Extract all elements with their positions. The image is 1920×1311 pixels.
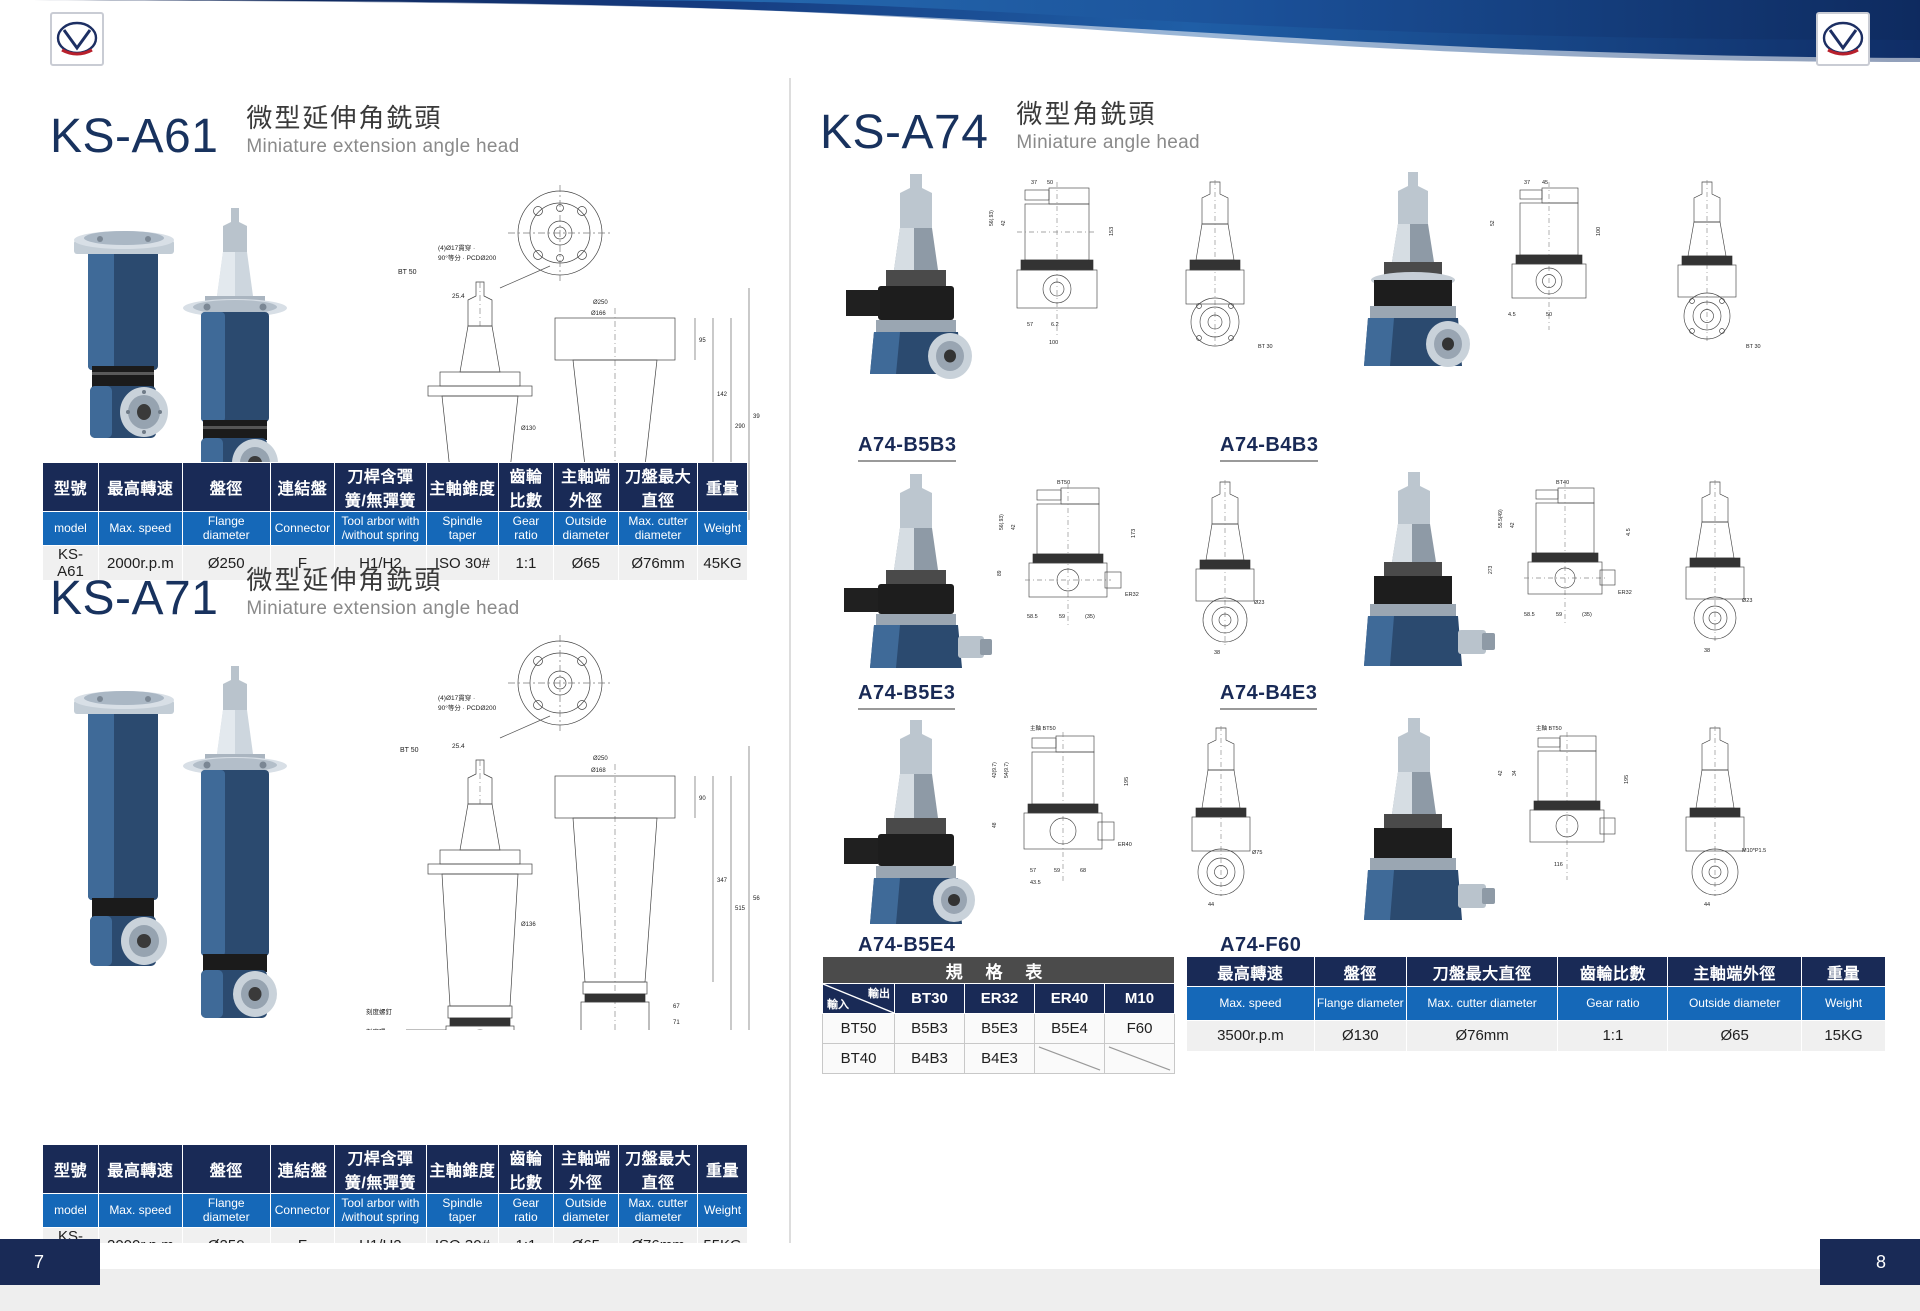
- svg-text:173: 173: [1131, 529, 1137, 538]
- svg-text:59: 59: [1556, 612, 1562, 618]
- svg-text:95: 95: [699, 338, 706, 344]
- product-code: KS-A74: [820, 109, 988, 157]
- svg-text:34: 34: [1512, 770, 1518, 776]
- svg-text:25.4: 25.4: [452, 743, 465, 750]
- th-en-connector: Connector: [270, 1194, 335, 1228]
- svg-text:44: 44: [1704, 902, 1710, 908]
- svg-text:主軸 BT50: 主軸 BT50: [1030, 724, 1056, 732]
- svg-text:BT 30: BT 30: [1258, 344, 1273, 350]
- th-en-gear-ratio: Gear ratio: [499, 512, 553, 546]
- svg-text:Ø166: Ø166: [591, 311, 606, 317]
- svg-text:Ø75: Ø75: [1252, 850, 1262, 856]
- svg-text:ER32: ER32: [1618, 590, 1632, 596]
- chart-row-bt50: BT50 B5B3 B5E3 B5E4 F60: [823, 1014, 1175, 1044]
- svg-text:57: 57: [1027, 322, 1033, 328]
- svg-text:58.5: 58.5: [1524, 612, 1535, 618]
- ks-logo-icon: [56, 18, 98, 60]
- chart-row-input-bt40: BT40: [823, 1044, 895, 1074]
- svg-text:54(9.7): 54(9.7): [1004, 762, 1010, 778]
- svg-text:45: 45: [1542, 180, 1548, 186]
- svg-text:48: 48: [992, 822, 998, 828]
- th-en-weight: Weight: [698, 512, 748, 546]
- svg-text:89: 89: [997, 570, 1003, 576]
- svg-text:Ø23: Ø23: [1742, 598, 1752, 604]
- footer-bar: 7 8: [0, 1243, 1920, 1311]
- th-cn-cutter-dia: 刀盤最大直徑: [1406, 957, 1558, 987]
- th-en-spindle-taper: Spindle taper: [426, 1194, 499, 1228]
- th-en-gear-ratio: Gear ratio: [499, 1194, 553, 1228]
- chart-cell-b5e4: B5E4: [1035, 1014, 1105, 1044]
- svg-text:58.5: 58.5: [1027, 614, 1038, 620]
- svg-text:4.5: 4.5: [1626, 528, 1632, 536]
- product-name-cn: 微型角銑頭: [1016, 100, 1199, 130]
- td-outside-dia: Ø65: [553, 546, 618, 581]
- variant-label-a74-b4b3: A74-B4B3: [1220, 434, 1318, 462]
- chart-cell-empty-er40: [1035, 1044, 1105, 1074]
- td-weight: 15KG: [1802, 1021, 1886, 1051]
- th-cn-cutter-dia: 刀盤最大直徑: [619, 463, 698, 512]
- not-available-diagonal-icon: [1105, 1044, 1174, 1073]
- th-en-flange-dia: Flange diameter: [182, 512, 270, 546]
- svg-text:59: 59: [1059, 614, 1065, 620]
- chart-cell-b5b3: B5B3: [895, 1014, 965, 1044]
- product-header-ks-a71: KS-A71 微型延伸角銑頭 Miniature extension angle…: [50, 566, 520, 623]
- th-en-flange-dia: Flange diameter: [182, 1194, 270, 1228]
- td-weight: 45KG: [698, 546, 748, 581]
- chart-cell-b4e3: B4E3: [965, 1044, 1035, 1074]
- svg-text:42: 42: [1510, 522, 1516, 528]
- th-cn-gear-ratio: 齒輪比數: [499, 1145, 553, 1194]
- svg-text:68: 68: [1080, 868, 1086, 874]
- th-cn-connector: 連結盤: [270, 463, 335, 512]
- th-en-outside-dia: Outside diameter: [1668, 987, 1802, 1021]
- svg-text:56(.93): 56(.93): [989, 210, 995, 226]
- svg-text:BT 50: BT 50: [398, 269, 417, 276]
- variant-label-a74-b5b3: A74-B5B3: [858, 434, 956, 462]
- th-cn-max-speed: 最高轉速: [98, 1145, 182, 1194]
- svg-text:M10*P1.5: M10*P1.5: [1742, 848, 1766, 854]
- svg-text:59: 59: [1054, 868, 1060, 874]
- table-header-row-en: model Max. speed Flange diameter Connect…: [43, 512, 748, 546]
- chart-col-er32: ER32: [965, 984, 1035, 1014]
- svg-text:37: 37: [1031, 180, 1037, 186]
- footer-strip: [0, 1269, 1920, 1311]
- svg-text:195: 195: [1624, 775, 1630, 784]
- table-header-row-cn: 型號 最高轉速 盤徑 連結盤 刀桿含彈簧/無彈簧 主軸錐度 齒輪比數 主軸端外徑…: [43, 1145, 748, 1194]
- svg-text:BT 50: BT 50: [400, 747, 419, 754]
- chart-cell-b5e3: B5E3: [965, 1014, 1035, 1044]
- variant-illustration-a74-b5b3: 37 50 56(.93) 42 57 6.2 153 100: [822, 166, 1332, 384]
- variant-illustration-a74-b5e3: BT50 56(.93) 42 ER32 89 58.5 59 (35) 173: [822, 468, 1332, 678]
- svg-text:290: 290: [735, 424, 746, 430]
- logo-badge-left: [50, 12, 104, 66]
- product-code: KS-A71: [50, 575, 218, 623]
- td-flange-dia: Ø130: [1314, 1021, 1406, 1051]
- product-header-ks-a61: KS-A61 微型延伸角銑頭 Miniature extension angle…: [50, 104, 520, 161]
- logo-badge-right: [1816, 12, 1870, 66]
- svg-text:50: 50: [1047, 180, 1053, 186]
- th-en-tool-arbor: Tool arbor with /without spring: [335, 512, 426, 546]
- svg-text:Ø136: Ø136: [521, 922, 536, 928]
- th-en-max-speed: Max. speed: [1187, 987, 1315, 1021]
- th-cn-connector: 連結盤: [270, 1145, 335, 1194]
- th-en-spindle-taper: Spindle taper: [426, 512, 499, 546]
- svg-text:44: 44: [1208, 902, 1214, 908]
- product-name-cn: 微型延伸角銑頭: [246, 104, 519, 134]
- chart-row-input-bt50: BT50: [823, 1014, 895, 1044]
- th-cn-spindle-taper: 主軸錐度: [426, 1145, 499, 1194]
- svg-text:Ø168: Ø168: [591, 768, 606, 774]
- svg-text:67: 67: [673, 1004, 680, 1010]
- chart-row-bt40: BT40 B4B3 B4E3: [823, 1044, 1175, 1074]
- th-cn-cutter-dia: 刀盤最大直徑: [619, 1145, 698, 1194]
- svg-text:515: 515: [735, 906, 746, 912]
- svg-text:37: 37: [1524, 180, 1530, 186]
- th-cn-tool-arbor: 刀桿含彈簧/無彈簧: [335, 1145, 426, 1194]
- td-cutter-dia: Ø76mm: [619, 546, 698, 581]
- th-cn-weight: 重量: [1802, 957, 1886, 987]
- th-en-outside-dia: Outside diameter: [553, 512, 618, 546]
- th-en-max-speed: Max. speed: [98, 1194, 182, 1228]
- th-en-cutter-dia: Max. cutter diameter: [619, 1194, 698, 1228]
- table-header-row-cn: 最高轉速 盤徑 刀盤最大直徑 齒輪比數 主軸端外徑 重量: [1187, 957, 1886, 987]
- product-photo-ks-a71-group: [40, 630, 380, 1030]
- svg-text:42: 42: [1001, 220, 1007, 226]
- svg-text:Ø130: Ø130: [521, 426, 536, 432]
- svg-text:25.4: 25.4: [452, 293, 465, 300]
- th-cn-max-speed: 最高轉速: [1187, 957, 1315, 987]
- svg-text:(4)Ø17貫穿 ·: (4)Ø17貫穿 ·: [438, 243, 475, 252]
- svg-text:100: 100: [1596, 227, 1602, 236]
- product-name-en: Miniature angle head: [1016, 132, 1199, 155]
- svg-text:142: 142: [717, 392, 728, 398]
- th-cn-model: 型號: [43, 1145, 99, 1194]
- svg-text:(4)Ø17貫穿 ·: (4)Ø17貫穿 ·: [438, 693, 475, 702]
- chart-col-er40: ER40: [1035, 984, 1105, 1014]
- th-en-cutter-dia: Max. cutter diameter: [619, 512, 698, 546]
- spec-table-ks-a61: 型號 最高轉速 盤徑 連結盤 刀桿含彈簧/無彈簧 主軸錐度 齒輪比數 主軸端外徑…: [42, 462, 748, 580]
- svg-text:4.5: 4.5: [1508, 312, 1516, 318]
- chart-cell-b4b3: B4B3: [895, 1044, 965, 1074]
- chart-axis-input-label: 輸入: [827, 996, 849, 1012]
- th-en-cutter-dia: Max. cutter diameter: [1406, 987, 1558, 1021]
- th-en-model: model: [43, 512, 99, 546]
- svg-text:BT 30: BT 30: [1746, 344, 1761, 350]
- variant-illustration-a74-b5e4: 主軸 BT50 42(9.7) 54(9.7) ER40 48 57 59 68…: [822, 714, 1332, 932]
- chart-cell-f60: F60: [1105, 1014, 1175, 1044]
- svg-text:主軸 BT50: 主軸 BT50: [1536, 724, 1562, 732]
- svg-text:ER40: ER40: [1118, 842, 1132, 848]
- variant-illustration-a74-b4b3: 37 45 52 4.5 50 100: [1290, 166, 1800, 384]
- table-header-row-en: Max. speed Flange diameter Max. cutter d…: [1187, 987, 1886, 1021]
- svg-text:38: 38: [1704, 648, 1710, 654]
- chart-col-m10: M10: [1105, 984, 1175, 1014]
- table-header-row-cn: 型號 最高轉速 盤徑 連結盤 刀桿含彈簧/無彈簧 主軸錐度 齒輪比數 主軸端外徑…: [43, 463, 748, 512]
- th-en-model: model: [43, 1194, 99, 1228]
- product-header-ks-a74: KS-A74 微型角銑頭 Miniature angle head: [820, 100, 1200, 157]
- not-available-diagonal-icon: [1035, 1044, 1104, 1073]
- product-name-en: Miniature extension angle head: [246, 136, 519, 159]
- page-number-right: 8: [1820, 1239, 1920, 1285]
- th-cn-tool-arbor: 刀桿含彈簧/無彈簧: [335, 463, 426, 512]
- th-cn-model: 型號: [43, 463, 99, 512]
- variant-illustration-a74-f60: 主軸 BT50 42 34 116 195: [1290, 714, 1800, 932]
- th-en-weight: Weight: [698, 1194, 748, 1228]
- svg-text:刻度環: 刻度環: [366, 1027, 386, 1030]
- product-name-en: Miniature extension angle head: [246, 598, 519, 621]
- page-left: KS-A61 微型延伸角銑頭 Miniature extension angle…: [0, 78, 790, 1238]
- th-en-tool-arbor: Tool arbor with /without spring: [335, 1194, 426, 1228]
- svg-text:6.2: 6.2: [1051, 322, 1059, 328]
- svg-text:42: 42: [1498, 770, 1504, 776]
- page-number-left: 7: [0, 1239, 100, 1285]
- svg-text:116: 116: [1554, 862, 1563, 868]
- svg-text:ER32: ER32: [1125, 592, 1139, 598]
- banner-graphic: [0, 0, 1920, 78]
- svg-text:BT40: BT40: [1556, 480, 1569, 486]
- svg-text:90°等分 · PCDØ200: 90°等分 · PCDØ200: [438, 253, 497, 262]
- svg-text:Ø250: Ø250: [593, 300, 608, 306]
- svg-text:347: 347: [717, 878, 728, 884]
- svg-text:Ø23: Ø23: [1254, 600, 1264, 606]
- svg-text:50: 50: [1546, 312, 1552, 318]
- top-banner: [0, 0, 1920, 78]
- svg-text:90°等分 · PCDØ200: 90°等分 · PCDØ200: [438, 703, 497, 712]
- svg-text:398: 398: [753, 414, 760, 420]
- product-code: KS-A61: [50, 113, 218, 161]
- chart-title-row: 規 格 表: [823, 957, 1175, 984]
- th-cn-outside-dia: 主軸端外徑: [553, 463, 618, 512]
- chart-title: 規 格 表: [823, 957, 1175, 984]
- th-en-weight: Weight: [1802, 987, 1886, 1021]
- svg-text:55.5(49): 55.5(49): [1498, 509, 1504, 528]
- chart-cell-empty-m10: [1105, 1044, 1175, 1074]
- svg-text:195: 195: [1124, 777, 1130, 786]
- svg-text:38: 38: [1214, 650, 1220, 656]
- variant-illustration-a74-b4e3: BT40 55.5(49) 42 ER32 273 58.5 59 (35) 4…: [1290, 468, 1800, 678]
- th-cn-spindle-taper: 主軸錐度: [426, 463, 499, 512]
- svg-text:273: 273: [1488, 565, 1494, 574]
- page-right: KS-A74 微型角銑頭 Miniature angle head: [790, 78, 1920, 1238]
- table-header-row-en: model Max. speed Flange diameter Connect…: [43, 1194, 748, 1228]
- th-cn-outside-dia: 主軸端外徑: [1668, 957, 1802, 987]
- svg-text:100: 100: [1049, 340, 1058, 346]
- svg-text:153: 153: [1109, 227, 1115, 236]
- svg-text:刻度螺釘: 刻度螺釘: [366, 1007, 393, 1016]
- chart-col-bt30: BT30: [895, 984, 965, 1014]
- chart-axis-corner: 輸出 輸入: [823, 984, 895, 1014]
- svg-text:43.5: 43.5: [1030, 880, 1041, 886]
- chart-axis-output-label: 輸出: [868, 985, 890, 1001]
- th-cn-weight: 重量: [698, 1145, 748, 1194]
- svg-text:(35): (35): [1582, 612, 1592, 618]
- th-en-max-speed: Max. speed: [98, 512, 182, 546]
- technical-drawing-ks-a71: (4)Ø17貫穿 · 90°等分 · PCDØ200 25.4 BT 50 刻度…: [360, 630, 760, 1030]
- product-name-cn: 微型延伸角銑頭: [246, 566, 519, 596]
- th-cn-gear-ratio: 齒輪比數: [499, 463, 553, 512]
- th-en-flange-dia: Flange diameter: [1314, 987, 1406, 1021]
- svg-text:42: 42: [1011, 524, 1017, 530]
- svg-text:Ø250: Ø250: [593, 756, 608, 762]
- chart-header-row: 輸出 輸入 BT30 ER32 ER40 M10: [823, 984, 1175, 1014]
- table-row: 3500r.p.m Ø130 Ø76mm 1:1 Ø65 15KG: [1187, 1021, 1886, 1051]
- th-cn-flange-dia: 盤徑: [1314, 957, 1406, 987]
- td-gear-ratio: 1:1: [1558, 1021, 1668, 1051]
- th-cn-flange-dia: 盤徑: [182, 463, 270, 512]
- svg-text:563: 563: [753, 896, 760, 902]
- td-outside-dia: Ø65: [1668, 1021, 1802, 1051]
- spec-cross-reference-chart: 規 格 表 輸出 輸入 BT30 ER32 ER40 M10 BT50 B5B3…: [822, 956, 1175, 1074]
- td-max-speed: 3500r.p.m: [1187, 1021, 1315, 1051]
- th-en-connector: Connector: [270, 512, 335, 546]
- th-cn-gear-ratio: 齒輪比數: [1558, 957, 1668, 987]
- ks-logo-icon: [1822, 18, 1864, 60]
- svg-text:71: 71: [673, 1020, 680, 1026]
- svg-text:42(9.7): 42(9.7): [992, 762, 998, 778]
- svg-text:90: 90: [699, 796, 706, 802]
- spec-table-ks-a74: 最高轉速 盤徑 刀盤最大直徑 齒輪比數 主軸端外徑 重量 Max. speed …: [1186, 956, 1886, 1051]
- td-cutter-dia: Ø76mm: [1406, 1021, 1558, 1051]
- svg-text:52: 52: [1490, 220, 1496, 226]
- svg-text:57: 57: [1030, 868, 1036, 874]
- th-cn-max-speed: 最高轉速: [98, 463, 182, 512]
- variant-label-a74-b5e3: A74-B5E3: [858, 682, 955, 710]
- th-cn-flange-dia: 盤徑: [182, 1145, 270, 1194]
- th-en-gear-ratio: Gear ratio: [1558, 987, 1668, 1021]
- variant-label-a74-b4e3: A74-B4E3: [1220, 682, 1317, 710]
- svg-text:56(.93): 56(.93): [999, 514, 1005, 530]
- svg-text:(35): (35): [1085, 614, 1095, 620]
- th-cn-weight: 重量: [698, 463, 748, 512]
- th-en-outside-dia: Outside diameter: [553, 1194, 618, 1228]
- th-cn-outside-dia: 主軸端外徑: [553, 1145, 618, 1194]
